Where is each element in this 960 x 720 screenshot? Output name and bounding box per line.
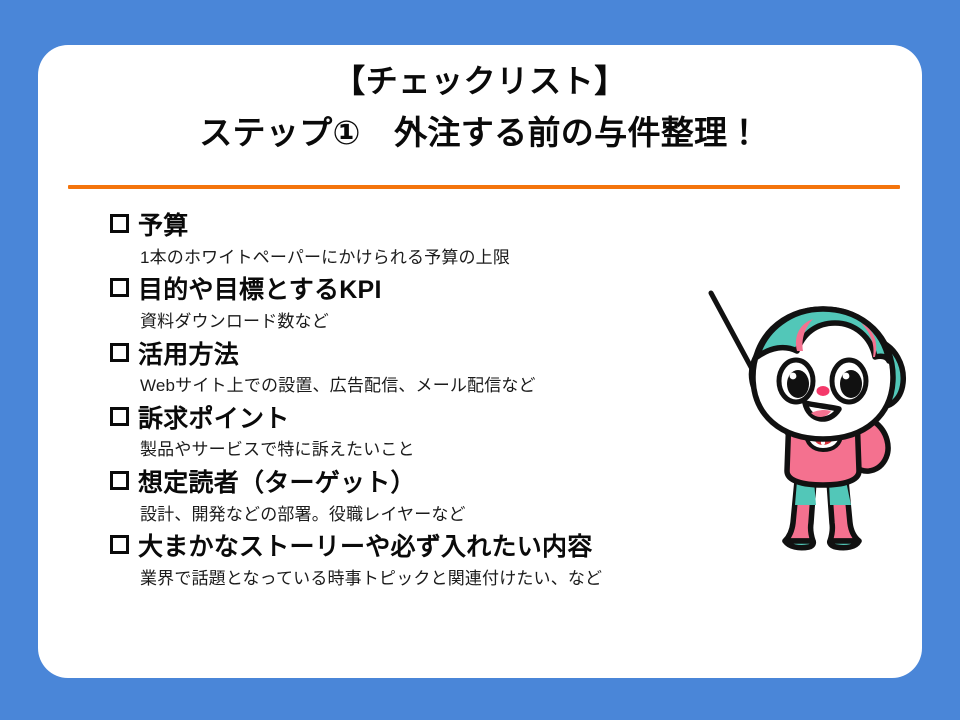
checklist-item-header[interactable]: 目的や目標とするKPI — [110, 274, 900, 307]
empty-square-icon[interactable] — [110, 407, 129, 426]
checklist-item-title: 訴求ポイント — [138, 403, 290, 436]
checklist-item-description: 資料ダウンロード数など — [140, 311, 900, 333]
empty-square-icon[interactable] — [110, 278, 129, 297]
checklist-item-description: 設計、開発などの部署。役職レイヤーなど — [140, 504, 900, 526]
checklist-item[interactable]: 訴求ポイント 製品やサービスで特に訴えたいこと — [110, 403, 900, 461]
checklist-item-title: 活用方法 — [138, 339, 239, 372]
empty-square-icon[interactable] — [110, 535, 129, 554]
checklist-item-description: 製品やサービスで特に訴えたいこと — [140, 439, 900, 461]
empty-square-icon[interactable] — [110, 214, 129, 233]
checklist-item[interactable]: 大まかなストーリーや必ず入れたい内容 業界で話題となっている時事トピックと関連付… — [110, 531, 900, 589]
page-title-secondary: ステップ① 外注する前の与件整理！ — [38, 112, 922, 155]
checklist-item-header[interactable]: 大まかなストーリーや必ず入れたい内容 — [110, 531, 900, 564]
content-card: 【チェックリスト】 ステップ① 外注する前の与件整理！ 予算 1本のホワイトペー… — [38, 45, 922, 678]
checklist-item-title: 目的や目標とするKPI — [138, 274, 382, 307]
checklist-item[interactable]: 予算 1本のホワイトペーパーにかけられる予算の上限 — [110, 210, 900, 268]
empty-square-icon[interactable] — [110, 343, 129, 362]
accent-divider — [68, 185, 900, 189]
page-title-primary: 【チェックリスト】 — [38, 61, 922, 102]
checklist-item-title: 大まかなストーリーや必ず入れたい内容 — [138, 531, 593, 564]
slide-canvas: 【チェックリスト】 ステップ① 外注する前の与件整理！ 予算 1本のホワイトペー… — [0, 0, 960, 720]
checklist-item-header[interactable]: 訴求ポイント — [110, 403, 900, 436]
checklist-item[interactable]: 目的や目標とするKPI 資料ダウンロード数など — [110, 274, 900, 332]
checklist-item-header[interactable]: 予算 — [110, 210, 900, 243]
empty-square-icon[interactable] — [110, 471, 129, 490]
checklist-item[interactable]: 活用方法 Webサイト上での設置、広告配信、メール配信など — [110, 339, 900, 397]
title-block: 【チェックリスト】 ステップ① 外注する前の与件整理！ — [38, 61, 922, 155]
checklist-item-title: 想定読者（ターゲット） — [138, 467, 416, 500]
checklist-item-header[interactable]: 想定読者（ターゲット） — [110, 467, 900, 500]
checklist-item[interactable]: 想定読者（ターゲット） 設計、開発などの部署。役職レイヤーなど — [110, 467, 900, 525]
checklist-item-description: Webサイト上での設置、広告配信、メール配信など — [140, 375, 900, 397]
checklist-item-title: 予算 — [138, 210, 189, 243]
checklist-item-description: 業界で話題となっている時事トピックと関連付けたい、など — [140, 568, 900, 590]
checklist-item-description: 1本のホワイトペーパーにかけられる予算の上限 — [140, 247, 900, 269]
checklist: 予算 1本のホワイトペーパーにかけられる予算の上限 目的や目標とするKPI 資料… — [110, 210, 900, 596]
checklist-item-header[interactable]: 活用方法 — [110, 339, 900, 372]
